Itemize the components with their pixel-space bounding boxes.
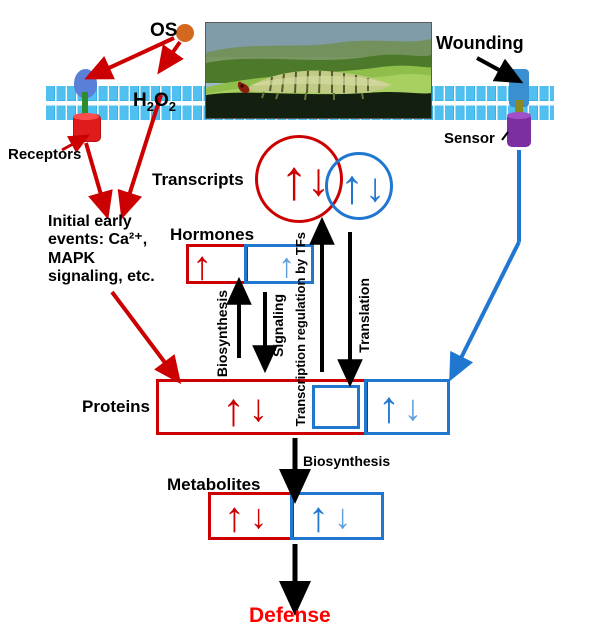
metabolites-blue-down-arrow: ↓ [334, 500, 351, 534]
metabolites-red-down-arrow: ↓ [250, 500, 267, 534]
biosynthesis-vertical-label: Biosynthesis [214, 290, 230, 377]
os-label: OS [150, 20, 177, 42]
os-elicitor-dot [176, 24, 194, 42]
metabolites-blue-up-arrow: ↑ [308, 496, 329, 538]
sensor-purple-cylinder-top [507, 112, 531, 119]
h2o2-label: H2O2 [133, 68, 176, 115]
transcripts-blue-up-arrow: ↑ [340, 164, 364, 212]
hormones-label: Hormones [170, 225, 254, 245]
biosynthesis-horizontal-label: Biosynthesis [303, 453, 390, 469]
proteins-red-down-arrow: ↓ [249, 390, 268, 428]
transcripts-label: Transcripts [152, 170, 244, 190]
receptors-label: Receptors [8, 146, 81, 163]
caterpillar-on-leaf-photo [205, 22, 432, 119]
h2o2-sub-2: 2 [147, 99, 154, 114]
transcripts-red-down-arrow: ↓ [307, 156, 330, 202]
diagram-canvas: ↑ ↓ ↑ ↓ ↑ ↑ ↑ ↓ ↑ ↓ ↑ ↓ ↑ ↓ [0, 0, 600, 641]
h2o2-text: H [133, 90, 147, 111]
h2o2-sub-2b: 2 [169, 99, 176, 114]
proteins-red-up-arrow: ↑ [222, 386, 245, 432]
translation-vertical-label: Translation [356, 278, 372, 353]
hormones-red-up-arrow: ↑ [192, 246, 212, 286]
metabolites-label: Metabolites [167, 475, 261, 495]
wounding-label: Wounding [436, 33, 524, 54]
transcripts-red-up-arrow: ↑ [280, 152, 308, 208]
initial-early-events-label: Initial early events: Ca²⁺, MAPK signali… [48, 213, 155, 287]
proteins-blue-up-arrow: ↑ [378, 386, 400, 430]
proteins-blue-down-arrow: ↓ [404, 390, 422, 426]
transcription-regulation-vertical-label: Transcription regulation by TFs [294, 232, 309, 426]
transcripts-blue-down-arrow: ↓ [365, 168, 385, 208]
signaling-vertical-label: Signaling [270, 294, 286, 357]
defense-label: Defense [249, 604, 331, 628]
proteins-blue-box-small [312, 385, 360, 429]
sensor-label: Sensor [444, 130, 495, 147]
receptor-red-cylinder-top [73, 113, 99, 120]
proteins-label: Proteins [82, 397, 150, 417]
h2o2-text-o: O [154, 90, 169, 111]
metabolites-red-up-arrow: ↑ [224, 496, 245, 538]
